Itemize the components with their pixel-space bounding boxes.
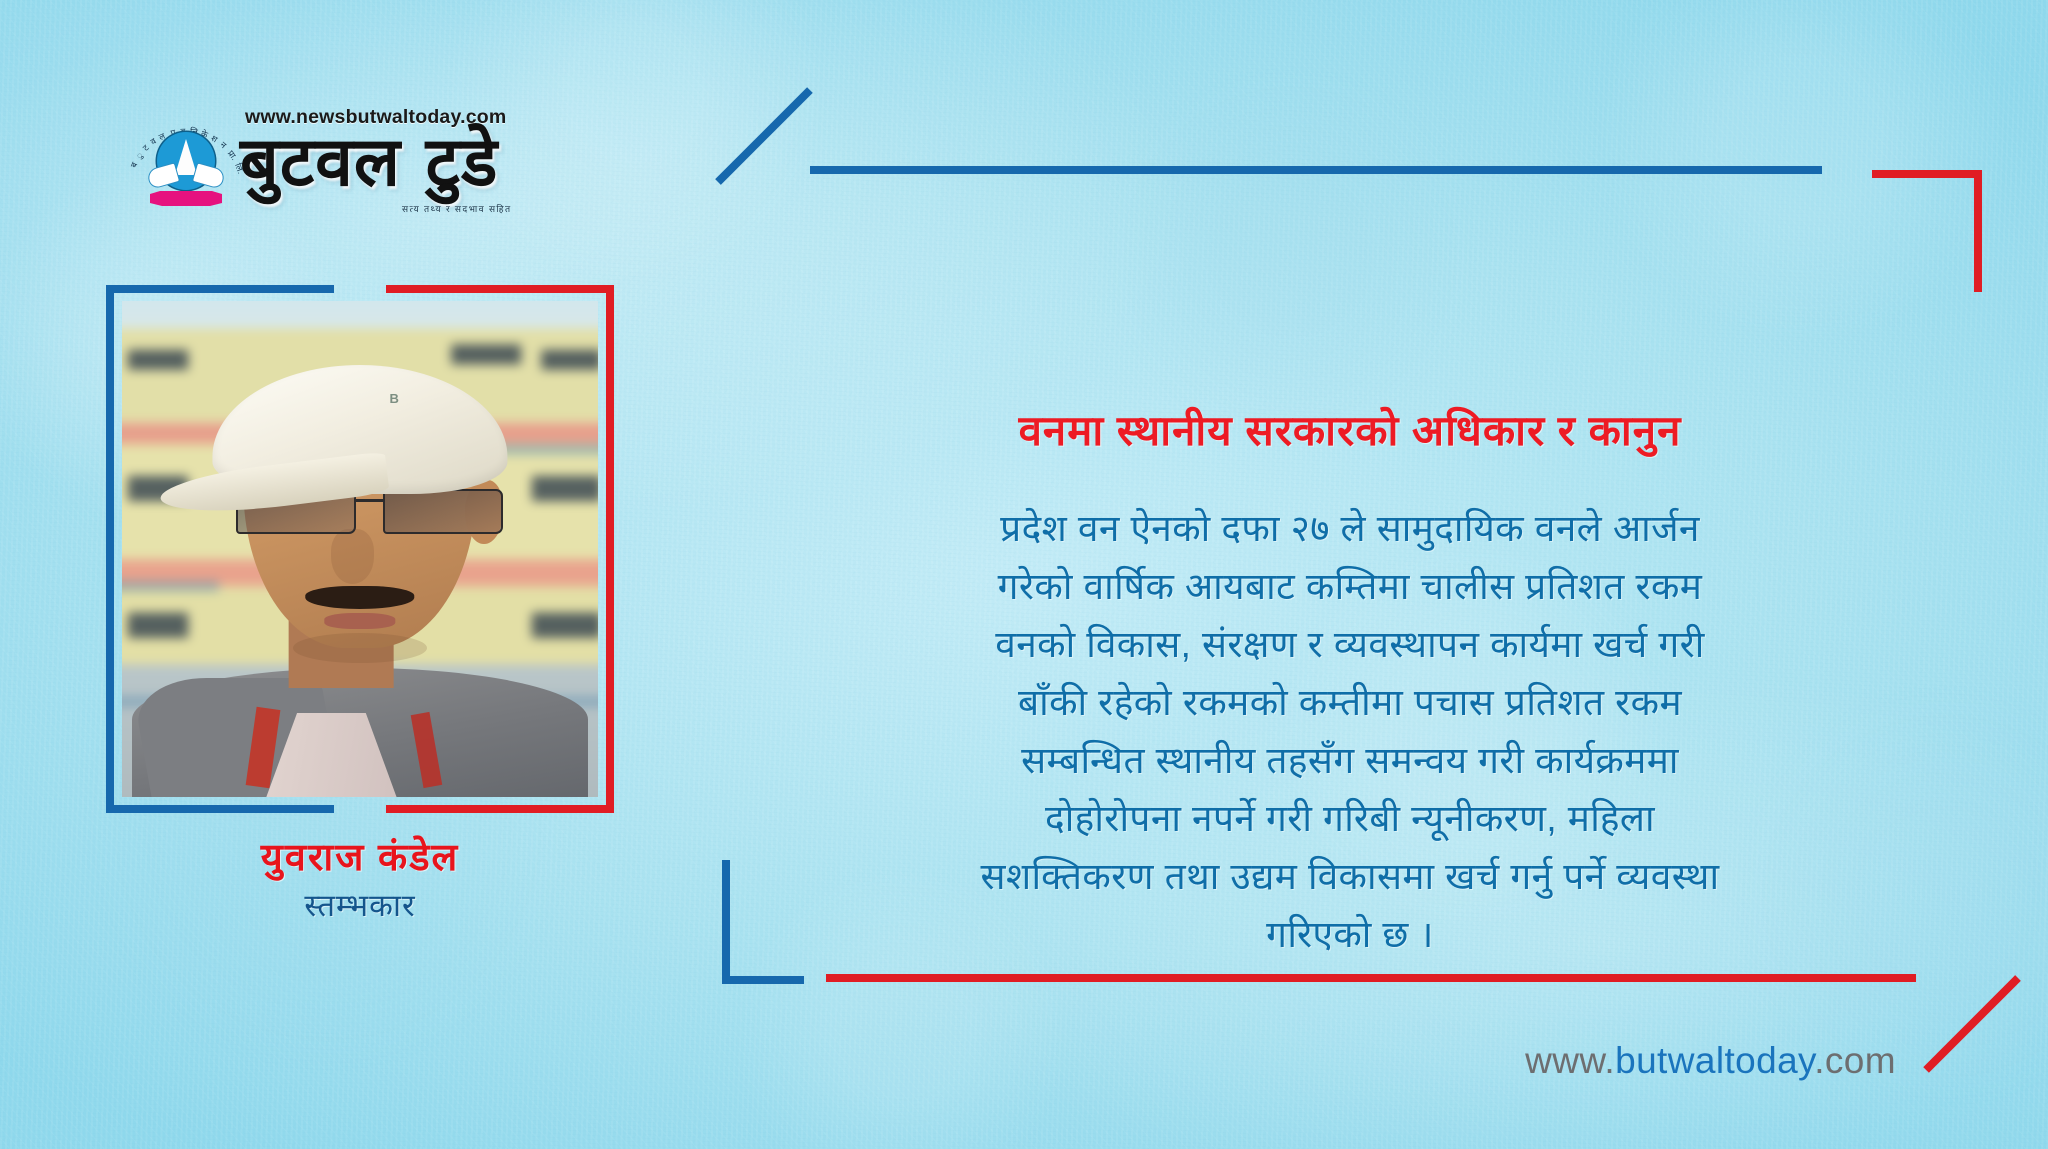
emblem-hands-icon (148, 166, 224, 190)
opinion-card: ब ु ट व ल प ब् लि के श न प्रा. लि. www.n… (0, 0, 2048, 1149)
article-body-line: वनको विकास, संरक्षण र व्यवस्थापन कार्यमा… (740, 616, 1960, 674)
article-body-line: दोहोरोपना नपर्ने गरी गरिबी न्यूनीकरण, मह… (740, 790, 1960, 848)
article-body-line: गरिएको छ । (740, 906, 1960, 964)
subject-nose (331, 529, 374, 584)
footer-url-suffix: .com (1814, 1040, 1896, 1081)
emblem-ribbon-icon (150, 191, 222, 206)
article-body-line: सशक्तिकरण तथा उद्यम विकासमा खर्च गर्नु प… (740, 848, 1960, 906)
masthead-tagline: सत्य तथ्य र सदभाव सहित (402, 202, 511, 215)
decorative-rule-top (810, 166, 1822, 174)
decorative-rule-bottom (826, 974, 1916, 982)
article-body-line: गरेको वार्षिक आयबाट कम्तिमा चालीस प्रतिश… (740, 558, 1960, 616)
article-body: प्रदेश वन ऐनको दफा २७ ले सामुदायिक वनले … (740, 500, 1960, 964)
author-role: स्तम्भकार (106, 884, 614, 928)
frame-border-bottom-left (106, 805, 334, 813)
author-caption: युवराज कंडेल स्तम्भकार (106, 832, 614, 928)
footer-website-url[interactable]: www.butwaltoday.com (1525, 1040, 1896, 1082)
cap-brand-logo: B (390, 391, 398, 406)
decorative-corner-bottom-left-h (722, 976, 804, 984)
frame-border-right (606, 285, 614, 813)
article-body-line: बाँकी रहेको रकमको कम्तीमा पचास प्रतिशत र… (740, 674, 1960, 732)
frame-border-bottom-right (386, 805, 614, 813)
decorative-diagonal-bottom-right (1923, 975, 2021, 1073)
frame-border-top-right (386, 285, 614, 293)
frame-border-top-left (106, 285, 334, 293)
article-body-line: सम्बन्धित स्थानीय तहसँग समन्वय गरी कार्य… (740, 732, 1960, 790)
subject-chin-shadow (293, 633, 426, 663)
subject-lips (324, 613, 395, 629)
author-name: युवराज कंडेल (106, 832, 614, 884)
decorative-corner-top-right-v (1974, 170, 1982, 292)
article-headline: वनमा स्थानीय सरकारको अधिकार र कानुन (760, 400, 1940, 462)
decorative-corner-top-right-h (1872, 170, 1982, 178)
masthead-wordmark: बुटवल टुडे (240, 124, 498, 202)
photo-subject: B (122, 301, 598, 797)
article-body-line: प्रदेश वन ऐनको दफा २७ ले सामुदायिक वनले … (740, 500, 1960, 558)
decorative-diagonal-top-left (715, 87, 813, 185)
subject-mustache (305, 586, 414, 609)
publisher-emblem-icon: ब ु ट व ल प ब् लि के श न प्रा. लि. (140, 126, 232, 204)
decorative-corner-bottom-left-v (722, 860, 730, 984)
footer-url-prefix: www. (1525, 1040, 1615, 1081)
frame-border-left (106, 285, 114, 813)
author-photo: B (122, 301, 598, 797)
author-portrait-frame: B (106, 285, 614, 813)
masthead-logo[interactable]: ब ु ट व ल प ब् लि के श न प्रा. लि. www.n… (140, 106, 590, 206)
footer-url-name: butwaltoday (1615, 1040, 1814, 1081)
